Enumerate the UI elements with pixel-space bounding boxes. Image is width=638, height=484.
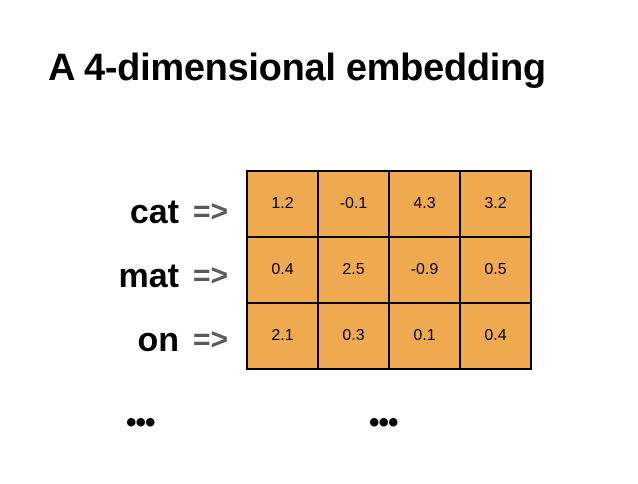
word-row: cat =>	[40, 180, 245, 244]
maps-to-arrow-icon: =>	[193, 261, 245, 291]
matrix-cell: 0.3	[318, 303, 389, 369]
matrix-cell: 2.1	[247, 303, 318, 369]
slide-canvas: A 4-dimensional embedding cat => mat => …	[0, 0, 638, 484]
matrix-cell: -0.1	[318, 171, 389, 237]
matrix-cell: 0.4	[247, 237, 318, 303]
matrix-cell: 0.4	[460, 303, 531, 369]
matrix-cell: 3.2	[460, 171, 531, 237]
word-label-mat: mat	[119, 259, 179, 293]
maps-to-arrow-icon: =>	[193, 325, 245, 355]
word-label-on: on	[137, 323, 179, 357]
matrix-cell: 0.1	[389, 303, 460, 369]
word-row: mat =>	[40, 244, 245, 308]
matrix-cell: 4.3	[389, 171, 460, 237]
matrix-cell: 2.5	[318, 237, 389, 303]
word-row: on =>	[40, 308, 245, 372]
table-row: 0.4 2.5 -0.9 0.5	[247, 237, 531, 303]
maps-to-arrow-icon: =>	[193, 197, 245, 227]
ellipsis-words: •••	[126, 408, 155, 438]
page-title: A 4-dimensional embedding	[48, 49, 608, 89]
matrix-cell: 1.2	[247, 171, 318, 237]
ellipsis-matrix: •••	[369, 408, 398, 438]
table-row: 1.2 -0.1 4.3 3.2	[247, 171, 531, 237]
word-label-list: cat => mat => on =>	[40, 180, 245, 372]
embedding-matrix: 1.2 -0.1 4.3 3.2 0.4 2.5 -0.9 0.5 2.1 0.…	[246, 170, 532, 370]
word-label-cat: cat	[130, 195, 179, 229]
matrix-cell: -0.9	[389, 237, 460, 303]
table-row: 2.1 0.3 0.1 0.4	[247, 303, 531, 369]
matrix-cell: 0.5	[460, 237, 531, 303]
